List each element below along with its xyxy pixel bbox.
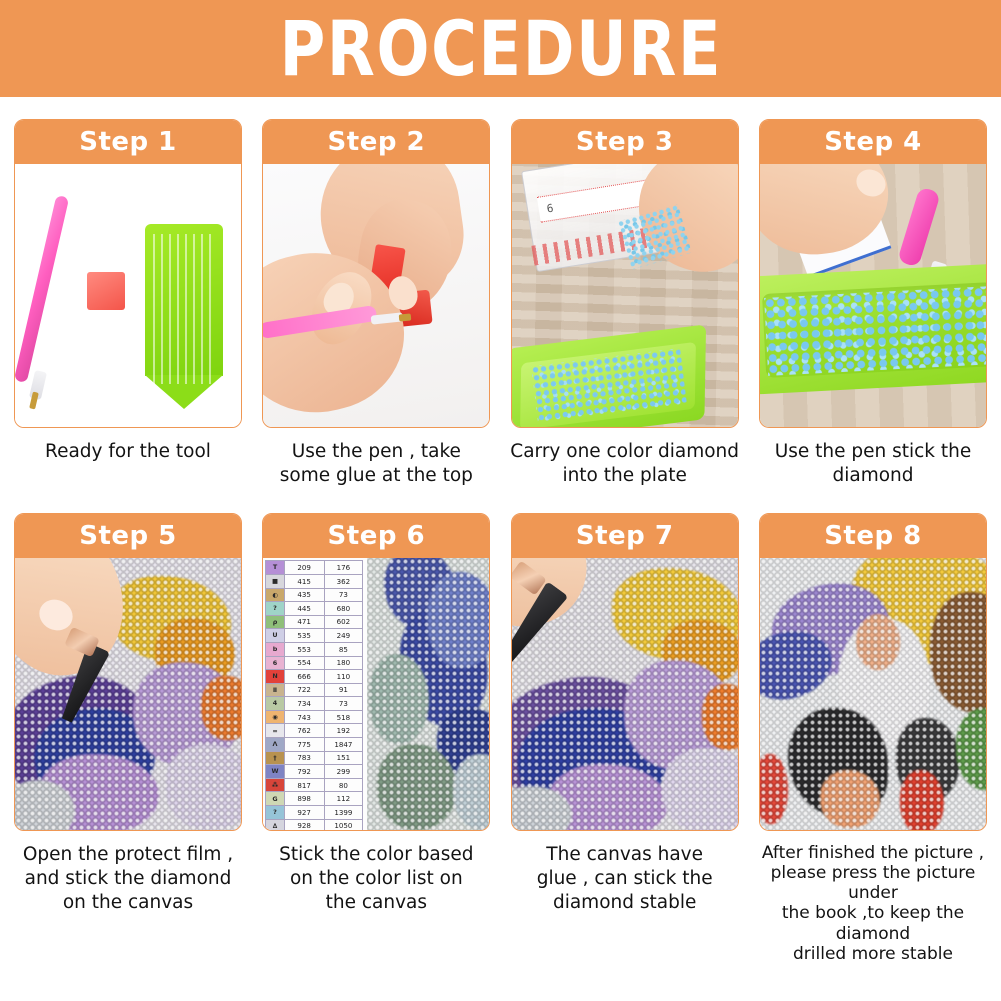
color-code-cell: 435 bbox=[284, 588, 324, 602]
color-count-cell: 299 bbox=[324, 765, 363, 779]
step-header-3: Step 3 bbox=[512, 120, 738, 164]
color-code-cell: 783 bbox=[284, 751, 324, 765]
step-header-7: Step 7 bbox=[512, 514, 738, 558]
step-header-5: Step 5 bbox=[15, 514, 241, 558]
color-symbol-cell: b bbox=[266, 642, 284, 656]
step-card-8: Step 8 bbox=[759, 513, 987, 831]
step-cell-4: Step 4 Use the pen stick the diamond bbox=[759, 119, 987, 487]
step-image-2 bbox=[263, 164, 489, 427]
color-count-cell: 91 bbox=[324, 683, 363, 697]
color-count-cell: 518 bbox=[324, 710, 363, 724]
color-symbol-cell: Λ bbox=[266, 738, 284, 752]
color-code-cell: 734 bbox=[284, 697, 324, 711]
color-code-cell: 762 bbox=[284, 724, 324, 738]
color-list-row: ◉743518 bbox=[266, 710, 363, 724]
glue-square-icon bbox=[87, 272, 125, 310]
color-symbol-cell: W bbox=[266, 765, 284, 779]
color-symbol-cell: T bbox=[266, 561, 284, 575]
step-image-8 bbox=[760, 558, 986, 830]
step-caption-3: Carry one color diamond into the plate bbox=[500, 440, 750, 487]
step-caption-1: Ready for the tool bbox=[3, 440, 253, 464]
step-header-4: Step 4 bbox=[760, 120, 986, 164]
color-symbol-cell: ◐ bbox=[266, 588, 284, 602]
color-count-cell: 110 bbox=[324, 670, 363, 684]
step-header-1: Step 1 bbox=[15, 120, 241, 164]
color-list-row: 473473 bbox=[266, 697, 363, 711]
step-image-3: 6 bbox=[512, 164, 738, 427]
step-cell-8: Step 8 bbox=[759, 513, 987, 963]
color-count-cell: 362 bbox=[324, 574, 363, 588]
color-symbol-cell: ∆ bbox=[266, 819, 284, 830]
step-header-2: Step 2 bbox=[263, 120, 489, 164]
step-image-5 bbox=[15, 558, 241, 830]
color-list-row: Ⅱ72291 bbox=[266, 683, 363, 697]
color-count-cell: 85 bbox=[324, 642, 363, 656]
step-card-5: Step 5 bbox=[14, 513, 242, 831]
step-image-4 bbox=[760, 164, 986, 427]
step-cell-5: Step 5 bbox=[14, 513, 242, 963]
color-code-cell: 775 bbox=[284, 738, 324, 752]
color-code-cell: 209 bbox=[284, 561, 324, 575]
color-code-cell: 415 bbox=[284, 574, 324, 588]
color-code-cell: 722 bbox=[284, 683, 324, 697]
step-card-2: Step 2 bbox=[262, 119, 490, 428]
color-count-cell: 1399 bbox=[324, 806, 363, 820]
step-caption-7: The canvas have glue , can stick the dia… bbox=[500, 843, 750, 914]
step-caption-4: Use the pen stick the diamond bbox=[748, 440, 998, 487]
color-count-cell: 73 bbox=[324, 697, 363, 711]
step-card-1: Step 1 bbox=[14, 119, 242, 428]
color-code-cell: 554 bbox=[284, 656, 324, 670]
color-list-row: ■415362 bbox=[266, 574, 363, 588]
color-symbol-cell: N bbox=[266, 670, 284, 684]
color-code-cell: 553 bbox=[284, 642, 324, 656]
step-cell-1: Step 1 Ready for the tool bbox=[14, 119, 242, 487]
page-title: PROCEDURE bbox=[279, 11, 722, 87]
step-header-label-6: Step 6 bbox=[328, 521, 426, 551]
color-list-row: ρ471602 bbox=[266, 615, 363, 629]
color-count-cell: 180 bbox=[324, 656, 363, 670]
color-symbol-cell: ρ bbox=[266, 615, 284, 629]
step-card-3: Step 3 6 bbox=[511, 119, 739, 428]
color-count-cell: 1847 bbox=[324, 738, 363, 752]
step-image-1 bbox=[15, 164, 241, 427]
color-symbol-cell: Ⅱ bbox=[266, 683, 284, 697]
step-header-label-1: Step 1 bbox=[79, 127, 177, 157]
step-cell-2: Step 2 Use the pen , take some glue at bbox=[262, 119, 490, 487]
color-count-cell: 151 bbox=[324, 751, 363, 765]
color-list-row: Λ7751847 bbox=[266, 738, 363, 752]
color-code-cell: 928 bbox=[284, 819, 324, 830]
color-count-cell: 680 bbox=[324, 602, 363, 616]
step-header-6: Step 6 bbox=[263, 514, 489, 558]
step-header-label-4: Step 4 bbox=[824, 127, 922, 157]
color-code-cell: 445 bbox=[284, 602, 324, 616]
step-image-7 bbox=[512, 558, 738, 830]
diamond-canvas bbox=[367, 558, 489, 830]
color-list-row: ◐43573 bbox=[266, 588, 363, 602]
color-list-row: =762192 bbox=[266, 724, 363, 738]
rhinestone-grid-texture bbox=[367, 558, 489, 830]
color-list-table: T209176■415362◐43573?445680ρ471602U53524… bbox=[265, 560, 363, 830]
color-symbol-cell: 6 bbox=[266, 656, 284, 670]
color-count-cell: 1050 bbox=[324, 819, 363, 830]
step-card-7: Step 7 bbox=[511, 513, 739, 831]
color-list-row: G898112 bbox=[266, 792, 363, 806]
color-list-row: ?445680 bbox=[266, 602, 363, 616]
color-list-row: T209176 bbox=[266, 561, 363, 575]
color-symbol-cell: ◉ bbox=[266, 710, 284, 724]
rhinestone-grid-texture bbox=[760, 558, 986, 830]
blue-diamonds-icon bbox=[764, 286, 986, 376]
step-caption-6: Stick the color based on the color list … bbox=[251, 843, 501, 914]
pink-pen-icon bbox=[15, 195, 69, 383]
steps-grid: Step 1 Ready for the tool Step 2 bbox=[0, 97, 1001, 964]
color-count-cell: 176 bbox=[324, 561, 363, 575]
color-symbol-cell: G bbox=[266, 792, 284, 806]
color-code-cell: 535 bbox=[284, 629, 324, 643]
step-caption-5: Open the protect film , and stick the di… bbox=[3, 843, 253, 914]
color-code-cell: 898 bbox=[284, 792, 324, 806]
color-code-cell: 743 bbox=[284, 710, 324, 724]
step-header-label-3: Step 3 bbox=[576, 127, 674, 157]
color-code-cell: 471 bbox=[284, 615, 324, 629]
color-code-cell: 927 bbox=[284, 806, 324, 820]
color-list-row: ∆9281050 bbox=[266, 819, 363, 830]
color-list-row: ?9271399 bbox=[266, 806, 363, 820]
step-header-8: Step 8 bbox=[760, 514, 986, 558]
color-symbol-cell: ⁂ bbox=[266, 778, 284, 792]
color-count-cell: 112 bbox=[324, 792, 363, 806]
step-card-6: Step 6 T209176■415362◐43573?445680ρ47160… bbox=[262, 513, 490, 831]
color-count-cell: 80 bbox=[324, 778, 363, 792]
steps-row-top: Step 1 Ready for the tool Step 2 bbox=[0, 119, 1001, 487]
color-list-row: W792299 bbox=[266, 765, 363, 779]
color-symbol-cell: ? bbox=[266, 806, 284, 820]
steps-row-bottom: Step 5 bbox=[0, 513, 1001, 963]
color-symbol-cell: 4 bbox=[266, 697, 284, 711]
color-symbol-cell: U bbox=[266, 629, 284, 643]
pink-pen-icon bbox=[897, 186, 941, 267]
color-list-row: U535249 bbox=[266, 629, 363, 643]
color-list-sheet: T209176■415362◐43573?445680ρ471602U53524… bbox=[263, 558, 368, 830]
color-list-row: †783151 bbox=[266, 751, 363, 765]
color-list-row: N666110 bbox=[266, 670, 363, 684]
step-header-label-2: Step 2 bbox=[328, 127, 426, 157]
color-symbol-cell: ? bbox=[266, 602, 284, 616]
step-header-label-7: Step 7 bbox=[576, 521, 674, 551]
step-cell-7: Step 7 bbox=[511, 513, 739, 963]
step-header-label-5: Step 5 bbox=[79, 521, 177, 551]
step-cell-3: Step 3 6 Carry one color diamond into th… bbox=[511, 119, 739, 487]
color-count-cell: 249 bbox=[324, 629, 363, 643]
color-count-cell: 192 bbox=[324, 724, 363, 738]
step-header-label-8: Step 8 bbox=[824, 521, 922, 551]
color-symbol-cell: † bbox=[266, 751, 284, 765]
color-code-cell: 666 bbox=[284, 670, 324, 684]
color-count-cell: 73 bbox=[324, 588, 363, 602]
step-cell-6: Step 6 T209176■415362◐43573?445680ρ47160… bbox=[262, 513, 490, 963]
color-symbol-cell: ■ bbox=[266, 574, 284, 588]
finished-diamond-painting bbox=[760, 558, 986, 830]
page-banner: PROCEDURE bbox=[0, 0, 1001, 97]
color-code-cell: 792 bbox=[284, 765, 324, 779]
color-count-cell: 602 bbox=[324, 615, 363, 629]
color-list-row: b55385 bbox=[266, 642, 363, 656]
color-list-row: ⁂81780 bbox=[266, 778, 363, 792]
color-symbol-cell: = bbox=[266, 724, 284, 738]
step-caption-8: After finished the picture , please pres… bbox=[748, 843, 998, 963]
pen-tip-icon bbox=[399, 313, 412, 321]
step-image-6: T209176■415362◐43573?445680ρ471602U53524… bbox=[263, 558, 489, 830]
color-list-row: 6554180 bbox=[266, 656, 363, 670]
step-caption-2: Use the pen , take some glue at the top bbox=[251, 440, 501, 487]
step-card-4: Step 4 bbox=[759, 119, 987, 428]
color-code-cell: 817 bbox=[284, 778, 324, 792]
tray-ribs-icon bbox=[153, 234, 215, 384]
